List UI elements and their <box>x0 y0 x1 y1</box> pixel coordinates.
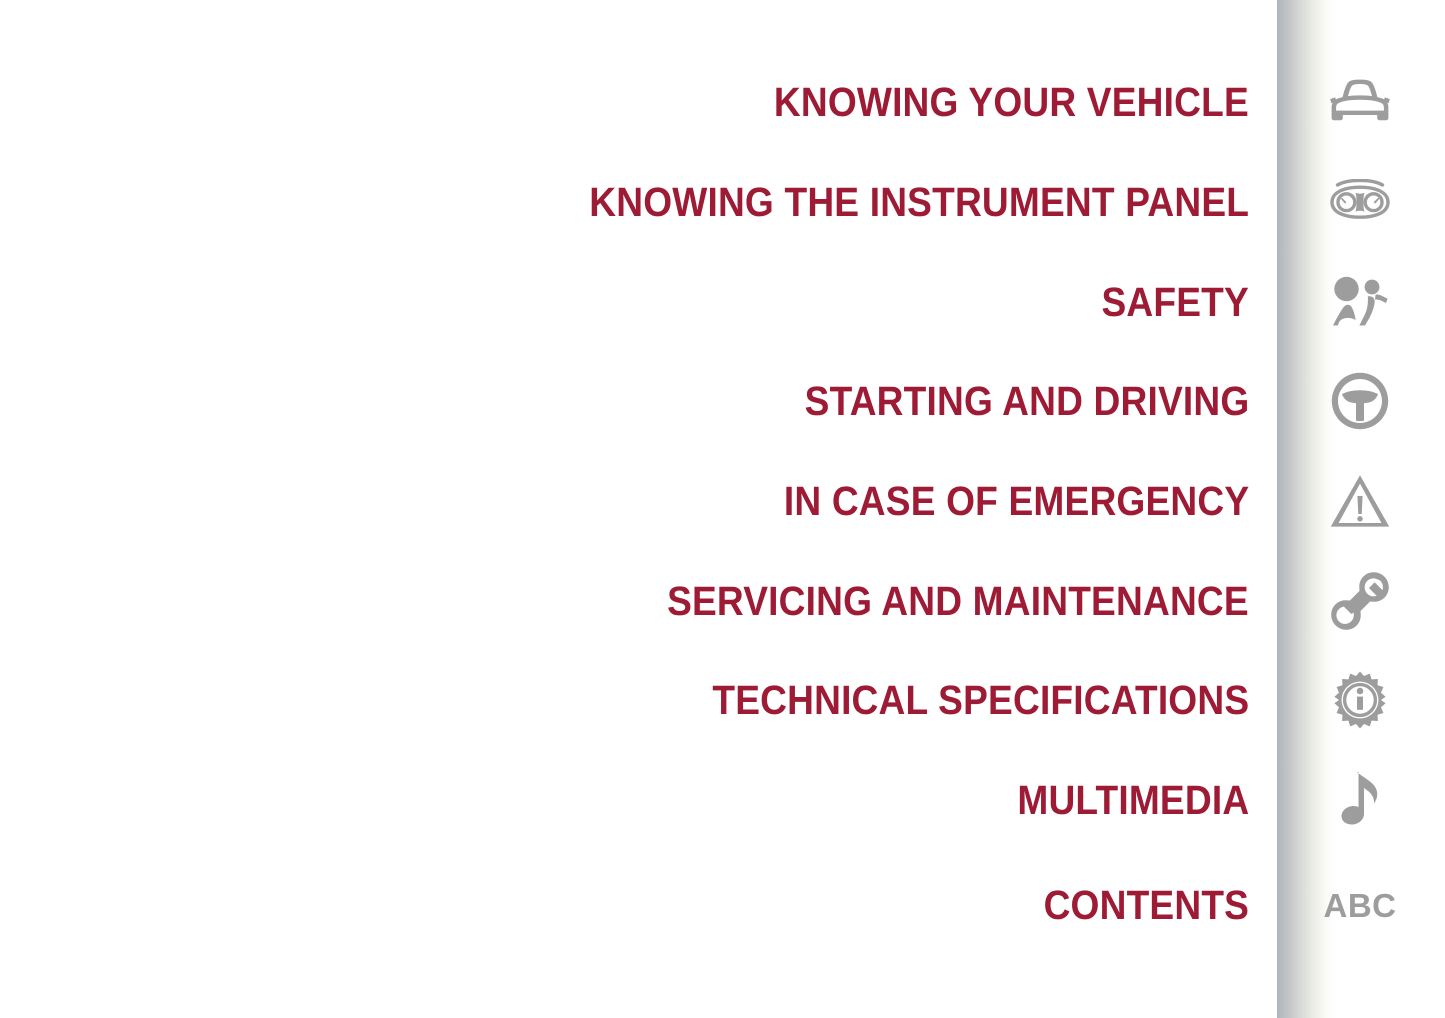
menu-item-in-case-of-emergency[interactable]: IN CASE OF EMERGENCY <box>0 451 1249 551</box>
menu-item-knowing-your-vehicle[interactable]: KNOWING YOUR VEHICLE <box>0 52 1249 152</box>
warning-triangle-icon <box>1330 474 1390 528</box>
menu-item-label: IN CASE OF EMERGENCY <box>784 481 1249 522</box>
icon-cell-knowing-the-instrument-panel[interactable] <box>1300 152 1420 252</box>
icon-cell-starting-and-driving[interactable] <box>1300 351 1420 451</box>
menu-item-label: SAFETY <box>1102 282 1249 323</box>
menu-item-technical-specifications[interactable]: TECHNICAL SPECIFICATIONS <box>0 650 1249 750</box>
menu-item-servicing-and-maintenance[interactable]: SERVICING AND MAINTENANCE <box>0 551 1249 651</box>
section-icon-rail: ABC <box>1300 0 1420 1018</box>
menu-item-label: MULTIMEDIA <box>1017 780 1249 821</box>
icon-cell-contents[interactable]: ABC <box>1300 855 1420 955</box>
info-gear-icon <box>1331 671 1389 729</box>
icon-cell-multimedia[interactable] <box>1300 750 1420 850</box>
icon-cell-knowing-your-vehicle[interactable] <box>1300 52 1420 152</box>
icon-cell-in-case-of-emergency[interactable] <box>1300 451 1420 551</box>
icon-cell-safety[interactable] <box>1300 252 1420 352</box>
menu-item-contents[interactable]: CONTENTS <box>0 855 1249 955</box>
menu-item-label: TECHNICAL SPECIFICATIONS <box>712 680 1249 721</box>
wrench-icon <box>1331 572 1389 630</box>
menu-item-label: SERVICING AND MAINTENANCE <box>667 581 1249 622</box>
menu-item-label: KNOWING YOUR VEHICLE <box>774 82 1249 123</box>
icon-cell-servicing-and-maintenance[interactable] <box>1300 551 1420 651</box>
menu-item-label: KNOWING THE INSTRUMENT PANEL <box>589 182 1249 223</box>
section-title-list: KNOWING YOUR VEHICLE KNOWING THE INSTRUM… <box>0 0 1249 1018</box>
menu-item-label: CONTENTS <box>1043 885 1249 926</box>
instrument-panel-icon <box>1329 179 1391 225</box>
menu-item-label: STARTING AND DRIVING <box>804 381 1249 422</box>
music-note-icon <box>1336 771 1384 829</box>
menu-item-starting-and-driving[interactable]: STARTING AND DRIVING <box>0 351 1249 451</box>
abc-index-icon: ABC <box>1324 889 1397 922</box>
manual-section-index-page: KNOWING YOUR VEHICLE KNOWING THE INSTRUM… <box>0 0 1445 1018</box>
steering-wheel-icon <box>1331 372 1389 430</box>
menu-item-knowing-the-instrument-panel[interactable]: KNOWING THE INSTRUMENT PANEL <box>0 152 1249 252</box>
airbag-seatbelt-icon <box>1329 276 1391 328</box>
car-front-icon <box>1329 79 1391 125</box>
menu-item-multimedia[interactable]: MULTIMEDIA <box>0 750 1249 850</box>
menu-item-safety[interactable]: SAFETY <box>0 252 1249 352</box>
icon-cell-technical-specifications[interactable] <box>1300 650 1420 750</box>
